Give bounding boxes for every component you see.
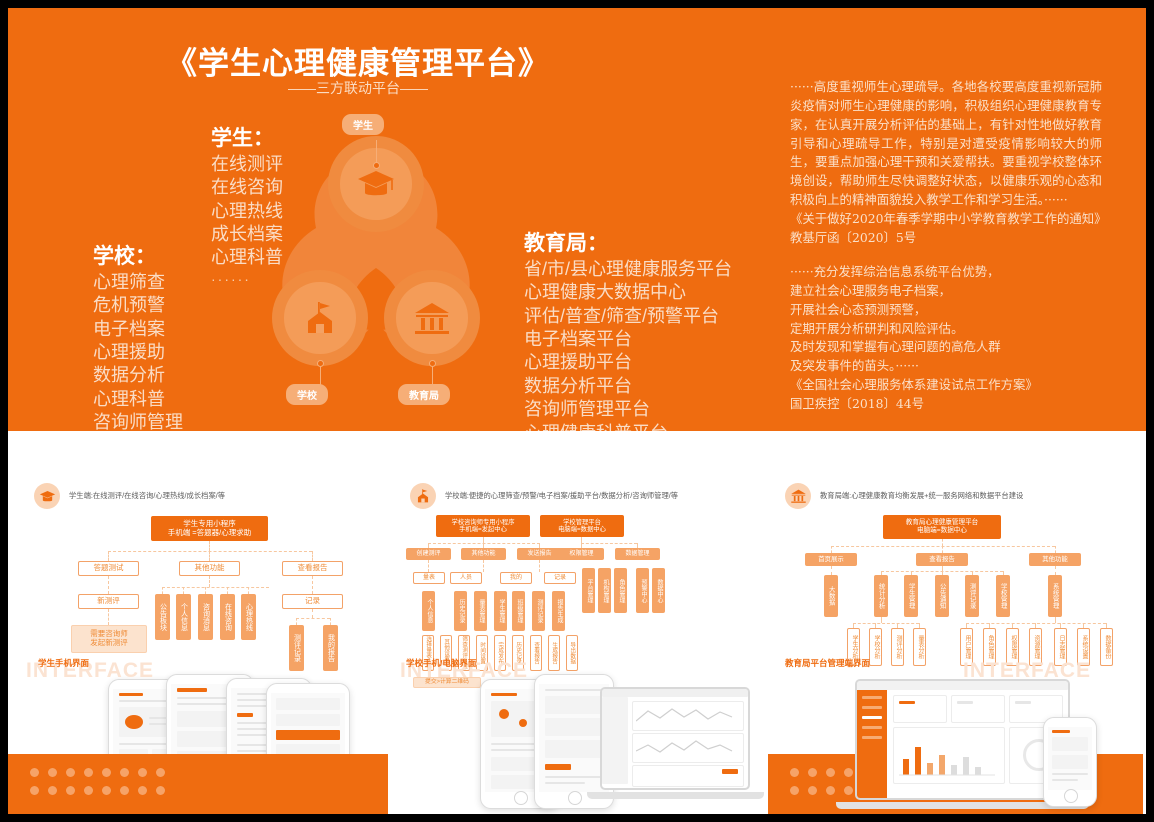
flow-node-data-mgmt[interactable]: 数据管理 — [615, 548, 660, 560]
phone-screen — [539, 684, 609, 792]
flow-node-leaf[interactable]: 预警中心 — [636, 568, 649, 613]
connector — [428, 543, 540, 544]
role-heading-school: 学校： — [93, 244, 183, 271]
flow-node-system-mgmt[interactable]: 系统管理 — [1048, 575, 1062, 617]
role-item: 评估/普查/筛查/预警平台 — [524, 305, 732, 328]
role-list-bureau: 省/市/县心理健康服务平台 心理健康大数据中心 评估/普查/筛查/预警平台 电子… — [524, 258, 732, 431]
triad-node-bureau[interactable] — [384, 270, 480, 366]
role-group-bureau: 教育局： 省/市/县心理健康服务平台 心理健康大数据中心 评估/普查/筛查/预警… — [524, 231, 732, 431]
phone-home-button — [1064, 789, 1078, 803]
flow-node-mine[interactable]: 我的 — [500, 572, 532, 584]
poster-sheet: 《学生心理健康管理平台》 ——三方联动平台—— 学生： 在线测评 在线咨询 心理… — [8, 8, 1146, 814]
role-item: 电子档案平台 — [524, 328, 732, 351]
triad-node-bureau-inner — [396, 282, 467, 353]
leader-dot-student — [373, 162, 380, 169]
triad-tag-bureau: 教育局 — [398, 384, 450, 405]
connector — [853, 623, 919, 624]
policy-body: ······高度重视师生心理疏导。各地各校要高度重视新冠肺炎疫情对师生心理健康的… — [790, 78, 1102, 210]
connector — [942, 539, 943, 546]
laptop-mock-bureau — [855, 679, 1070, 809]
flow-node-my-report[interactable]: 我的报告 — [323, 625, 338, 671]
flow-node-school-analysis[interactable]: 学校分析 — [869, 628, 882, 666]
role-item: 心理科普 — [93, 388, 183, 411]
flow-node-label: 需要咨询师 发起新测评 — [90, 630, 128, 647]
connector — [581, 543, 637, 544]
connector — [209, 541, 210, 551]
flow-root-line2: 手机端 =答题器/心理求助 — [168, 529, 252, 538]
top-banner: 《学生心理健康管理平台》 ——三方联动平台—— 学生： 在线测评 在线咨询 心理… — [8, 8, 1146, 431]
role-item: 数据分析 — [93, 364, 183, 387]
flow-node-other-features[interactable]: 其他功能 — [461, 548, 506, 560]
flow-node-new-assessment[interactable]: 新测评 — [78, 594, 139, 609]
connector — [428, 560, 429, 572]
role-item: 数据分析平台 — [524, 375, 732, 398]
interface-label-school: 学校手机/电脑界面 — [406, 657, 476, 669]
role-item: 心理健康科普平台 — [524, 422, 732, 431]
connector — [108, 609, 109, 625]
laptop-screen — [855, 679, 1070, 800]
flow-node-announcement[interactable]: 公告通知 — [935, 575, 949, 617]
flow-node-student-mgmt[interactable]: 学生管理 — [904, 575, 918, 617]
role-item: 危机预警 — [93, 294, 183, 317]
connector — [162, 587, 269, 588]
connector — [1055, 566, 1056, 575]
flow-root-line2: 手机端=发起中心 — [459, 526, 507, 533]
policy-ref: 国卫疾控〔2018〕44号 — [790, 395, 1102, 414]
flow-node-announcement[interactable]: 公告板块 — [155, 594, 170, 640]
flow-root-bureau[interactable]: 教育局心理健康管理平台 电脑端=数据中心 — [883, 515, 1001, 539]
triad-node-school[interactable] — [272, 270, 368, 366]
flow-node-school-mgmt[interactable]: 学校管理 — [996, 575, 1010, 617]
interface-label-student: 学生手机界面 — [38, 657, 89, 669]
school-flowchart: 学校咨询师专用小程序 手机端=发起中心 学校管理平台 电脑端=数据中心 创建测评… — [388, 431, 763, 681]
connector — [483, 560, 484, 572]
bottom-strip-student — [8, 754, 388, 814]
panel-school: 学校端:便捷的心理筛查/预警/电子档案/援助平台/数据分析/咨询师管理/等 学校… — [388, 431, 763, 814]
phone-screen — [1048, 727, 1092, 790]
government-building-icon — [412, 300, 452, 336]
line-chart-icon — [636, 705, 736, 725]
flow-root-line1: 教育局心理健康管理平台 — [906, 519, 979, 527]
connector — [831, 546, 1055, 547]
leader-line-student — [376, 140, 377, 164]
panel-student: 学生端:在线测评/在线咨询/心理热线/成长档案/等 学生专用小程序 手机端 =答… — [8, 431, 388, 814]
flow-node-create-assessment[interactable]: 创建测评 — [406, 548, 451, 560]
flow-node-leaf[interactable]: 个人信息 — [422, 591, 435, 631]
student-flowchart: 学生专用小程序 手机端 =答题器/心理求助 答题测试 其他功能 查看报告 新测评… — [8, 431, 388, 691]
flow-node-leaf[interactable]: 数据中心 — [652, 568, 665, 613]
connector — [183, 587, 184, 594]
connector — [942, 546, 943, 553]
flow-node-records[interactable]: 记录 — [282, 594, 343, 609]
policy-source: 《全国社会心理服务体系建设试点工作方案》 — [790, 376, 1102, 395]
flow-root-line1: 学校管理平台 — [563, 519, 601, 526]
policy-quote-1: ······高度重视师生心理疏导。各地各校要高度重视新冠肺炎疫情对师生心理健康的… — [790, 78, 1102, 248]
connector — [248, 587, 249, 594]
sidebar-nav — [857, 690, 887, 798]
policy-source: 《关于做好2020年春季学期中小学教育教学工作的通知》 — [790, 210, 1102, 229]
leader-line-school — [320, 364, 321, 386]
leader-dot-bureau — [429, 360, 436, 367]
school-building-icon — [301, 300, 339, 336]
flow-node-scale-analysis[interactable]: 量表分析 — [913, 628, 926, 666]
dot-row-top — [30, 768, 165, 777]
role-item: 心理健康大数据中心 — [524, 281, 732, 304]
flow-node-leaf[interactable]: 角色管理 — [614, 568, 627, 613]
flow-node-sub[interactable]: 导出数据 — [566, 635, 578, 671]
flow-node-hotline[interactable]: 心理热线 — [241, 594, 256, 640]
flow-node-other-features[interactable]: 其他功能 — [179, 561, 240, 576]
flow-node-profile[interactable]: 个人信息 — [176, 594, 191, 640]
role-item: 省/市/县心理健康服务平台 — [524, 258, 732, 281]
leader-dot-school — [317, 360, 324, 367]
flow-node-leaf[interactable]: 学生管理 — [494, 591, 507, 631]
flow-node-scale[interactable]: 量表 — [413, 572, 445, 584]
role-group-school: 学校： 心理筛查 危机预警 电子档案 心理援助 数据分析 心理科普 咨询师管理 … — [93, 244, 183, 431]
connector — [1055, 546, 1056, 553]
connector — [108, 576, 109, 594]
connector — [209, 551, 210, 561]
flow-node-answer-test[interactable]: 答题测试 — [78, 561, 139, 576]
role-list-school: 心理筛查 危机预警 电子档案 心理援助 数据分析 心理科普 咨询师管理 ····… — [93, 271, 183, 431]
leader-line-bureau — [432, 364, 433, 386]
phone-home-button — [514, 791, 528, 805]
flow-node-need-counselor[interactable]: 需要咨询师 发起新测评 — [71, 625, 147, 653]
graduation-cap-icon — [356, 167, 396, 201]
flow-node-leaf[interactable]: 历史记录 — [454, 591, 467, 631]
triad-tag-school: 学校 — [286, 384, 328, 405]
connector — [831, 566, 832, 575]
connector — [108, 551, 109, 561]
flow-node-view-report[interactable]: 查看报告 — [282, 561, 343, 576]
flow-node-data-backup[interactable]: 数据备份 — [1100, 628, 1113, 666]
flow-node-leaf[interactable]: 班级管理 — [512, 591, 525, 631]
connector — [831, 546, 832, 553]
flow-root-line1: 学校咨询师专用小程序 — [452, 519, 515, 526]
poster-page: 《学生心理健康管理平台》 ——三方联动平台—— 学生： 在线测评 在线咨询 心理… — [0, 0, 1154, 822]
flow-root-line2: 电脑端=数据中心 — [917, 527, 967, 535]
connector — [162, 587, 163, 594]
role-item: 咨询师管理 — [93, 411, 183, 431]
flow-node-personnel[interactable]: 人员 — [450, 572, 482, 584]
flow-node-send-report[interactable]: 发送报告 — [517, 548, 562, 560]
flow-node-leaf[interactable]: 平台管理 — [582, 568, 595, 613]
flow-node-sub[interactable]: 生成报告 — [548, 635, 560, 671]
flow-node-record[interactable]: 记录 — [544, 572, 576, 584]
laptop-base — [587, 792, 764, 799]
flow-node-online-consult[interactable]: 在线咨询 — [220, 594, 235, 640]
role-item: 心理筛查 — [93, 271, 183, 294]
flow-node-bigdata[interactable]: 大数据 — [824, 575, 838, 617]
policy-quote-2: ······充分发挥综治信息系统平台优势， 建立社会心理服务电子档案， 开展社会… — [790, 263, 1102, 414]
flow-node-leaf[interactable]: 量表管理 — [474, 591, 487, 631]
connector — [966, 623, 1106, 624]
laptop-screen — [600, 687, 750, 790]
role-item: 心理援助 — [93, 341, 183, 364]
flow-node-leaf[interactable]: 报告生成 — [552, 591, 565, 631]
connector — [227, 587, 228, 594]
connector — [312, 551, 313, 561]
flow-node-statistics[interactable]: 统计分析 — [874, 575, 888, 617]
connector — [330, 618, 331, 625]
phone-home-button — [568, 791, 582, 805]
flow-root-line2: 电脑端=数据中心 — [558, 526, 606, 533]
policy-ref: 教基厅函〔2020〕5号 — [790, 229, 1102, 248]
bar-chart-icon — [899, 737, 995, 777]
connector — [108, 551, 312, 552]
bureau-flowchart: 教育局心理健康管理平台 电脑端=数据中心 首页展示 查看报告 其他功能 大数据 — [763, 431, 1146, 681]
connector — [296, 618, 330, 619]
phone-mock-bureau — [1043, 717, 1097, 807]
flow-node-permission-mgmt[interactable]: 权限管理 — [559, 548, 604, 560]
connector — [296, 618, 297, 625]
flow-node-leaf[interactable]: 测评记录 — [532, 591, 545, 631]
flow-root-school-app[interactable]: 学校咨询师专用小程序 手机端=发起中心 — [436, 515, 530, 537]
flow-root-school-platform[interactable]: 学校管理平台 电脑端=数据中心 — [540, 515, 624, 537]
connector — [205, 587, 206, 594]
line-chart-icon — [636, 737, 736, 757]
connector — [209, 576, 210, 587]
dot-row-bottom — [30, 786, 165, 795]
triad-diagram: 学生 学校 教育局 — [266, 128, 486, 403]
watermark-text: INTERFACE — [963, 659, 1091, 683]
flow-node-view-report[interactable]: 查看报告 — [916, 553, 968, 566]
connector — [312, 609, 313, 618]
role-item: 咨询师管理平台 — [524, 398, 732, 421]
flow-node-consult-message[interactable]: 咨询消息 — [198, 594, 213, 640]
flow-node-other-features[interactable]: 其他功能 — [1029, 553, 1081, 566]
role-item: 心理援助平台 — [524, 351, 732, 374]
flow-node-assessment-analysis[interactable]: 测评分析 — [891, 628, 904, 666]
page-subtitle: ——三方联动平台—— — [8, 78, 708, 98]
lower-section: 学生端:在线测评/在线咨询/心理热线/成长档案/等 学生专用小程序 手机端 =答… — [8, 431, 1146, 814]
panel-bureau: 教育局端:心理健康教育均衡发展+统一服务网络和数据平台建设 教育局心理健康管理平… — [763, 431, 1146, 814]
role-item: 电子档案 — [93, 318, 183, 341]
flow-node-home-display[interactable]: 首页展示 — [805, 553, 857, 566]
role-heading-bureau: 教育局： — [524, 231, 732, 258]
laptop-mock-school — [600, 687, 750, 799]
flow-node-leaf[interactable]: 机构管理 — [598, 568, 611, 613]
connector — [539, 560, 540, 572]
triad-tag-student: 学生 — [342, 114, 384, 135]
interface-label-bureau: 教育局平台管理端界面 — [785, 657, 870, 669]
flow-node-sub[interactable]: 查看报告 — [530, 635, 542, 671]
connector — [312, 576, 313, 594]
policy-body: ······充分发挥综治信息系统平台优势， 建立社会心理服务电子档案， 开展社会… — [790, 263, 1102, 376]
flow-node-assessment-record[interactable]: 测评记录 — [289, 625, 304, 671]
flow-node-assessment-record[interactable]: 测评记录 — [965, 575, 979, 617]
triad-node-school-inner — [284, 282, 355, 353]
flow-root-student[interactable]: 学生专用小程序 手机端 =答题器/心理求助 — [151, 516, 268, 541]
page-title: 《学生心理健康管理平台》 — [8, 38, 708, 83]
